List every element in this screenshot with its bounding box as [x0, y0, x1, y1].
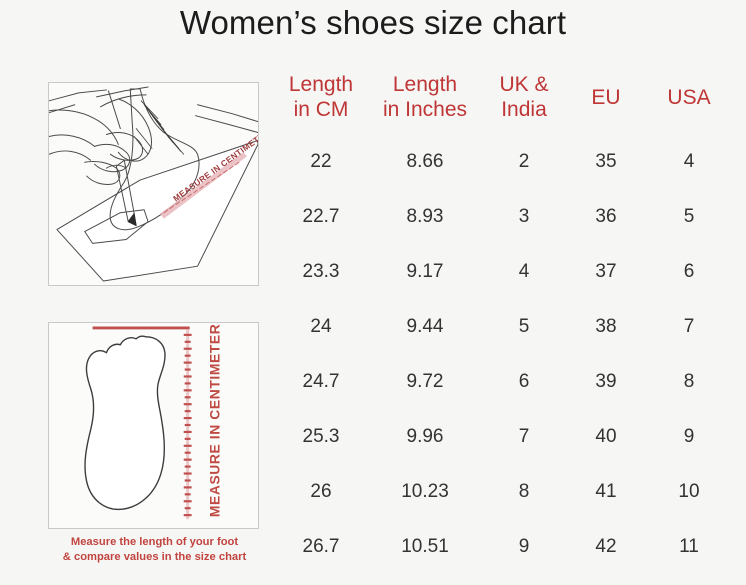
cell-uk-india: 3	[480, 189, 568, 244]
cell-uk-india: 6	[480, 354, 568, 409]
table-row: 26.7 10.51 9 42 11	[272, 519, 734, 574]
cell-usa: 8	[644, 354, 734, 409]
table-row: 22 8.66 2 35 4	[272, 134, 734, 189]
column-header-usa: USA	[644, 66, 734, 134]
cell-eu: 42	[568, 519, 644, 574]
cell-eu: 35	[568, 134, 644, 189]
table-row: 23.3 9.17 4 37 6	[272, 244, 734, 299]
cell-length-inches: 9.44	[370, 299, 480, 354]
cell-uk-india: 5	[480, 299, 568, 354]
cell-eu: 37	[568, 244, 644, 299]
column-header-length-inches: Length in Inches	[370, 66, 480, 134]
column-header-length-cm: Length in CM	[272, 66, 370, 134]
cell-length-cm: 25.3	[272, 409, 370, 464]
column-header-length-inches-line2: in Inches	[370, 97, 480, 122]
cell-length-inches: 10.23	[370, 464, 480, 519]
illustrations-column: MEASURE IN CENTIMETERS	[48, 82, 261, 529]
cell-length-inches: 10.51	[370, 519, 480, 574]
column-header-length-inches-line1: Length	[370, 72, 480, 97]
cell-length-cm: 24.7	[272, 354, 370, 409]
cell-length-inches: 9.17	[370, 244, 480, 299]
cell-usa: 6	[644, 244, 734, 299]
column-header-uk-india: UK & India	[480, 66, 568, 134]
cell-length-inches: 8.66	[370, 134, 480, 189]
foot-shape	[85, 336, 165, 509]
cell-usa: 10	[644, 464, 734, 519]
column-header-eu: EU	[568, 66, 644, 134]
cell-usa: 7	[644, 299, 734, 354]
cell-length-cm: 22	[272, 134, 370, 189]
caption-line-1: Measure the length of your foot	[48, 535, 261, 550]
column-header-usa-line1: USA	[644, 85, 734, 110]
column-header-eu-line1: EU	[568, 85, 644, 110]
caption-line-2: & compare values in the size chart	[48, 550, 261, 565]
foot-outline-ruler-label: MEASURE IN CENTIMETERS	[206, 323, 222, 517]
cell-eu: 41	[568, 464, 644, 519]
cell-eu: 36	[568, 189, 644, 244]
cell-uk-india: 9	[480, 519, 568, 574]
column-header-uk-india-line2: India	[480, 97, 568, 122]
cell-length-cm: 26.7	[272, 519, 370, 574]
cell-usa: 11	[644, 519, 734, 574]
illustration-caption: Measure the length of your foot & compar…	[48, 535, 261, 565]
cell-uk-india: 8	[480, 464, 568, 519]
cell-length-cm: 24	[272, 299, 370, 354]
cell-usa: 9	[644, 409, 734, 464]
table-row: 24.7 9.72 6 39 8	[272, 354, 734, 409]
hand-tracing-foot-illustration: MEASURE IN CENTIMETERS	[48, 82, 259, 286]
table-header-row: Length in CM Length in Inches UK & India…	[272, 66, 734, 134]
cell-uk-india: 7	[480, 409, 568, 464]
column-header-uk-india-line1: UK &	[480, 72, 568, 97]
cell-uk-india: 4	[480, 244, 568, 299]
cell-eu: 38	[568, 299, 644, 354]
cell-uk-india: 2	[480, 134, 568, 189]
cell-usa: 4	[644, 134, 734, 189]
foot-outline-graphic: MEASURE IN CENTIMETERS	[49, 323, 258, 528]
cell-usa: 5	[644, 189, 734, 244]
cell-length-cm: 23.3	[272, 244, 370, 299]
column-header-length-cm-line1: Length	[272, 72, 370, 97]
cell-length-cm: 22.7	[272, 189, 370, 244]
table-row: 26 10.23 8 41 10	[272, 464, 734, 519]
cell-length-inches: 9.96	[370, 409, 480, 464]
table-row: 24 9.44 5 38 7	[272, 299, 734, 354]
table-row: 22.7 8.93 3 36 5	[272, 189, 734, 244]
page-title: Women’s shoes size chart	[0, 4, 746, 42]
cell-length-inches: 9.72	[370, 354, 480, 409]
table-body: 22 8.66 2 35 4 22.7 8.93 3 36 5 23.3 9.1…	[272, 134, 734, 574]
column-header-length-cm-line2: in CM	[272, 97, 370, 122]
table-row: 25.3 9.96 7 40 9	[272, 409, 734, 464]
cell-length-inches: 8.93	[370, 189, 480, 244]
foot-outline-illustration: MEASURE IN CENTIMETERS	[48, 322, 259, 529]
cell-eu: 40	[568, 409, 644, 464]
size-chart-table: Length in CM Length in Inches UK & India…	[272, 66, 734, 574]
cell-length-cm: 26	[272, 464, 370, 519]
cell-eu: 39	[568, 354, 644, 409]
hand-tracing-foot-graphic: MEASURE IN CENTIMETERS	[49, 83, 258, 285]
